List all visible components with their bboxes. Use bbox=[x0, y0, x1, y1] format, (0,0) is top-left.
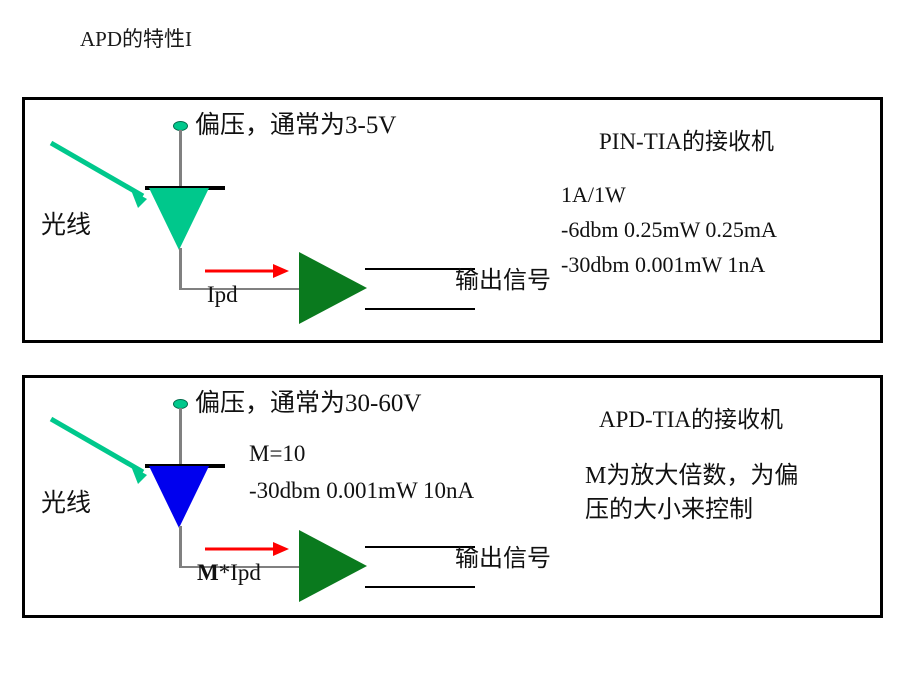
photocurrent-arrow-icon bbox=[203, 538, 295, 560]
light-label: 光线 bbox=[41, 490, 91, 518]
gain-note-line-1: M=10 bbox=[249, 441, 305, 467]
photocurrent-label-text: Ipd bbox=[207, 282, 238, 307]
page-title: APD的特性I bbox=[80, 28, 192, 51]
spec-line-3: -30dbm 0.001mW 1nA bbox=[561, 253, 765, 278]
gain-note-line-2: -30dbm 0.001mW 10nA bbox=[249, 478, 474, 504]
amp-output-line-bottom bbox=[365, 586, 475, 588]
spec-line-2: -6dbm 0.25mW 0.25mA bbox=[561, 218, 777, 243]
bias-wire-upper bbox=[179, 408, 182, 466]
bias-wire-lower bbox=[179, 248, 182, 290]
photocurrent-label: Ipd bbox=[207, 282, 238, 308]
panel-apd-tia: 光线 M*Ipd 偏压，通常为30-60V M=10 -30dbm 0.001m… bbox=[22, 375, 883, 618]
panel-heading: PIN-TIA的接收机 bbox=[599, 129, 774, 155]
side-note-line-2: 压的大小来控制 bbox=[585, 496, 753, 525]
bias-voltage-label: 偏压，通常为30-60V bbox=[195, 390, 421, 418]
slide-canvas: APD的特性I 光线 Ipd bbox=[0, 0, 920, 690]
photocurrent-label-prefix: M bbox=[197, 560, 219, 585]
photodiode-symbol bbox=[149, 188, 209, 250]
bias-wire-upper bbox=[179, 130, 182, 188]
signal-wire-to-amp bbox=[179, 288, 301, 290]
spec-line-1: 1A/1W bbox=[561, 183, 626, 208]
panel-heading: APD-TIA的接收机 bbox=[599, 407, 783, 433]
apd-photodiode-symbol bbox=[149, 466, 209, 528]
bias-voltage-label: 偏压，通常为3-5V bbox=[195, 112, 396, 140]
output-signal-label: 输出信号 bbox=[455, 546, 551, 573]
photocurrent-arrow-icon bbox=[203, 260, 295, 282]
light-label: 光线 bbox=[41, 212, 91, 240]
bias-wire-lower bbox=[179, 526, 182, 568]
amp-output-line-bottom bbox=[365, 308, 475, 310]
side-note-line-1: M为放大倍数，为偏 bbox=[585, 462, 798, 491]
photocurrent-label: M*Ipd bbox=[197, 560, 261, 586]
photocurrent-label-text: *Ipd bbox=[219, 560, 261, 585]
tia-amplifier-symbol bbox=[299, 530, 367, 602]
tia-amplifier-symbol bbox=[299, 252, 367, 324]
output-signal-label: 输出信号 bbox=[455, 268, 551, 295]
panel-pin-tia: 光线 Ipd 偏压，通常为3-5V 输出信号 PIN-TIA的接收机 bbox=[22, 97, 883, 343]
